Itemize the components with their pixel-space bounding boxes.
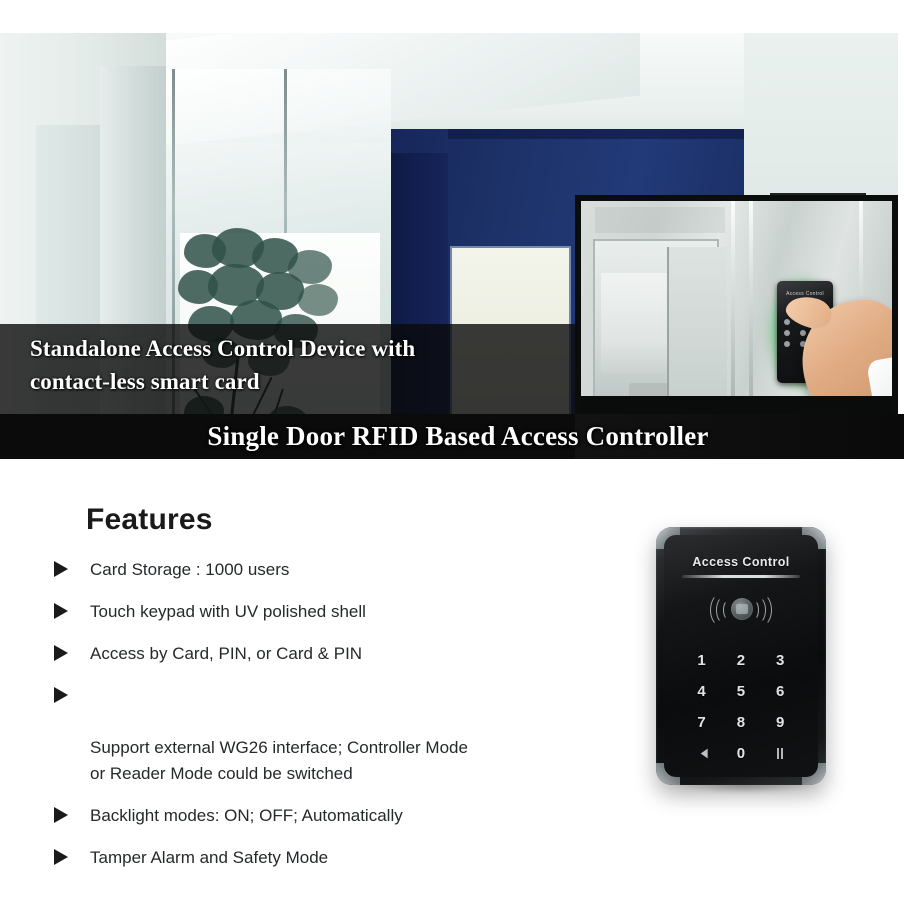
keypad-key-4[interactable]: 4 [682, 676, 721, 707]
keypad-key-6[interactable]: 6 [761, 676, 800, 707]
product-title: Single Door RFID Based Access Controller [0, 418, 904, 454]
features-heading: Features [86, 503, 213, 537]
feature-text: Touch keypad with UV polished shell [90, 602, 366, 621]
inset-bottom-shadow [581, 396, 892, 414]
feature-text: Support external WG26 interface; Control… [90, 738, 468, 783]
product-title-band: Single Door RFID Based Access Controller [0, 414, 904, 459]
inset-key [784, 319, 790, 325]
glass-edge [749, 201, 753, 414]
arrow-bullet-icon [54, 561, 68, 577]
device-light-strip [682, 575, 800, 578]
feature-item: Card Storage : 1000 users [48, 557, 608, 583]
keypad-key-bell[interactable] [682, 738, 721, 769]
device-keypad: 1 2 3 4 5 6 7 8 9 0 [682, 645, 800, 769]
glass-door-leaf [667, 247, 727, 405]
product-device-image: Access Control 1 2 3 [650, 527, 830, 797]
inset-key [784, 330, 790, 336]
rfid-chip-glyph [736, 604, 748, 614]
features-section: Features Card Storage : 1000 users Touch… [0, 459, 904, 904]
arrow-bullet-icon [54, 687, 68, 703]
rfid-core-icon [731, 598, 753, 620]
glass-edge [731, 201, 735, 414]
feature-item: Tamper Alarm and Safety Mode [48, 845, 608, 871]
feature-item: Support external WG26 interface; Control… [48, 683, 608, 787]
arrow-bullet-icon [54, 603, 68, 619]
feature-text: Card Storage : 1000 users [90, 560, 289, 579]
feature-item: Backlight modes: ON; OFF; Automatically [48, 803, 608, 829]
feature-text: Backlight modes: ON; OFF; Automatically [90, 806, 403, 825]
keypad-key-8[interactable]: 8 [721, 707, 760, 738]
keypad-key-1[interactable]: 1 [682, 645, 721, 676]
keypad-key-7[interactable]: 7 [682, 707, 721, 738]
feature-item: Touch keypad with UV polished shell [48, 599, 608, 625]
device-brand-label: Access Control [656, 555, 826, 569]
product-marketing-page: Access Control [0, 0, 904, 904]
arrow-bullet-icon [54, 645, 68, 661]
feature-text: Tamper Alarm and Safety Mode [90, 848, 328, 867]
keypad-key-0[interactable]: 0 [721, 738, 760, 769]
headline-line-2: contact-less smart card [30, 365, 560, 398]
rfid-contactless-icon [711, 593, 771, 627]
headline-text: Standalone Access Control Device with co… [30, 332, 560, 398]
arrow-bullet-icon [54, 849, 68, 865]
keypad-key-3[interactable]: 3 [761, 645, 800, 676]
keypad-key-hash[interactable] [761, 738, 800, 769]
inset-photo-hand-on-reader: Access Control [575, 195, 898, 420]
headline-line-1: Standalone Access Control Device with [30, 332, 560, 365]
navy-wall-top-edge [448, 129, 744, 139]
inset-key [784, 341, 790, 347]
keypad-key-9[interactable]: 9 [761, 707, 800, 738]
features-list: Card Storage : 1000 users Touch keypad w… [48, 557, 608, 887]
doorbell-icon [696, 748, 708, 759]
keypad-key-5[interactable]: 5 [721, 676, 760, 707]
ghost-signage [595, 207, 725, 233]
keypad-key-2[interactable]: 2 [721, 645, 760, 676]
feature-text: Access by Card, PIN, or Card & PIN [90, 644, 362, 663]
feature-item: Access by Card, PIN, or Card & PIN [48, 641, 608, 667]
headline-overlay: Standalone Access Control Device with co… [0, 324, 575, 414]
arrow-bullet-icon [54, 807, 68, 823]
inset-key [800, 330, 806, 336]
access-control-device: Access Control 1 2 3 [656, 527, 826, 785]
background-room [601, 273, 671, 373]
hash-icon [775, 748, 785, 759]
